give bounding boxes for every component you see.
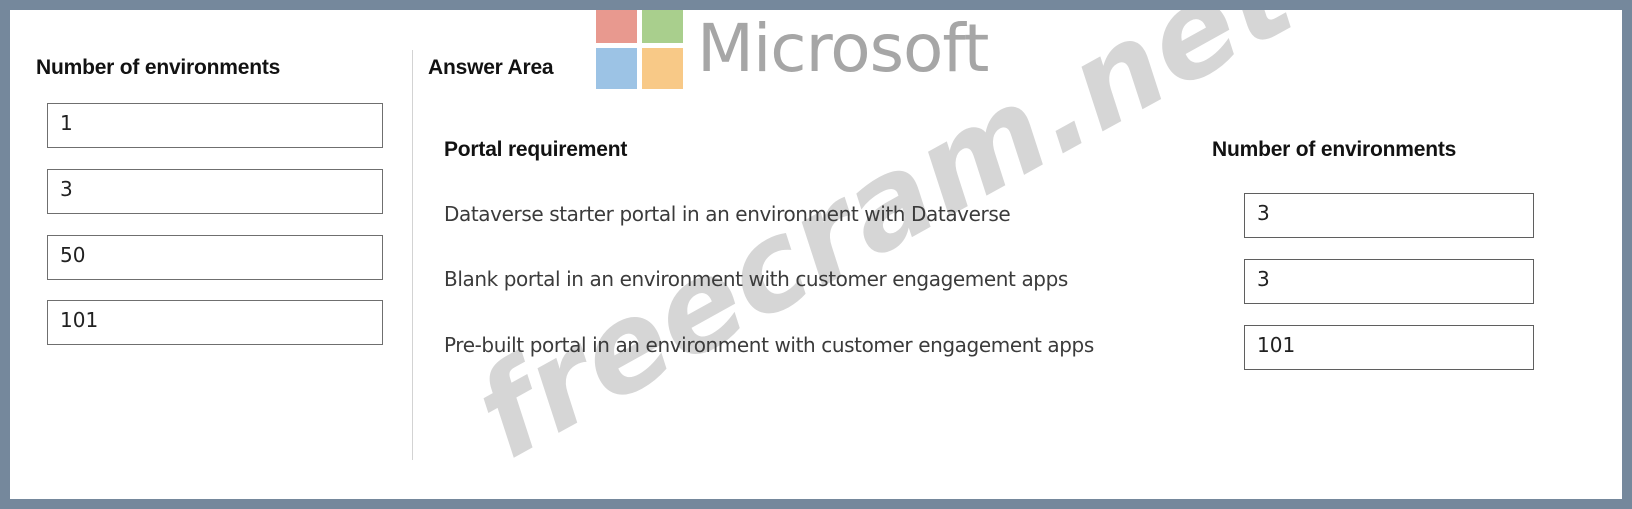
microsoft-logo: Microsoft: [596, 10, 988, 89]
microsoft-wordmark: Microsoft: [697, 16, 988, 82]
answer-dropzone-2[interactable]: 3: [1244, 259, 1534, 304]
answer-value-2: 3: [1257, 267, 1270, 291]
table-row-requirement-3: Pre-built portal in an environment with …: [444, 333, 1094, 357]
option-token-1[interactable]: 1: [47, 103, 383, 148]
column-header-portal-requirement: Portal requirement: [444, 138, 627, 162]
option-token-label: 1: [60, 111, 73, 135]
screenshot-frame: freecram.net Microsoft Number of environ…: [0, 0, 1632, 509]
content-canvas: freecram.net Microsoft Number of environ…: [10, 10, 1622, 499]
logo-square-blue-icon: [596, 48, 637, 89]
option-token-3[interactable]: 3: [47, 169, 383, 214]
options-panel-header: Number of environments: [36, 56, 280, 80]
option-token-101[interactable]: 101: [47, 300, 383, 345]
answer-area-label: Answer Area: [428, 56, 553, 80]
answer-value-3: 101: [1257, 333, 1295, 357]
column-header-number-of-environments: Number of environments: [1212, 138, 1456, 162]
panel-divider: [412, 50, 413, 460]
answer-dropzone-3[interactable]: 101: [1244, 325, 1534, 370]
options-panel: Number of environments 1 3 50 101: [10, 10, 412, 499]
microsoft-logo-squares: [596, 10, 683, 89]
logo-square-red-icon: [596, 10, 637, 43]
answer-value-1: 3: [1257, 201, 1270, 225]
logo-square-green-icon: [642, 10, 683, 43]
option-token-label: 3: [60, 177, 73, 201]
logo-square-yellow-icon: [642, 48, 683, 89]
option-token-label: 101: [60, 308, 98, 332]
option-token-50[interactable]: 50: [47, 235, 383, 280]
option-token-label: 50: [60, 243, 85, 267]
table-row-requirement-1: Dataverse starter portal in an environme…: [444, 202, 1010, 226]
table-row-requirement-2: Blank portal in an environment with cust…: [444, 267, 1068, 291]
answer-dropzone-1[interactable]: 3: [1244, 193, 1534, 238]
